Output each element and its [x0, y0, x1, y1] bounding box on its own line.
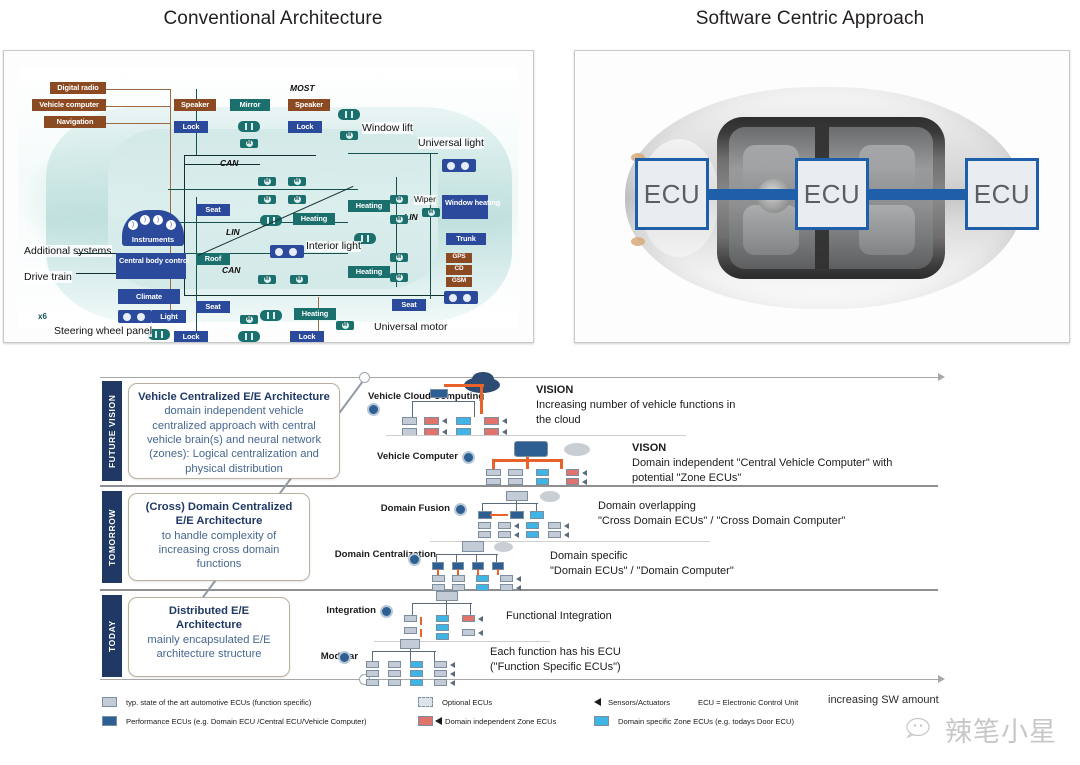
domain-zone-ecu	[436, 624, 449, 631]
ecu-gps: GPS	[446, 253, 472, 263]
ecu-gsm: GSM	[446, 277, 472, 287]
bus-link	[516, 501, 517, 511]
universal-motor-icon: M	[390, 273, 408, 282]
desc-title: VISION	[536, 383, 746, 398]
cloud-icon	[564, 443, 590, 456]
ecu-lock: Lock	[290, 331, 324, 343]
bus-wire	[196, 197, 197, 343]
zone-link	[444, 384, 484, 387]
zone-link	[420, 617, 422, 625]
desc-body: "Cross Domain ECUs" / "Cross Domain Comp…	[598, 515, 845, 527]
legend-swatch-zone-ecu	[418, 716, 433, 726]
lin-bus-wire	[348, 153, 438, 154]
domain-zone-ecu	[526, 531, 539, 538]
cluster-vehicle-computer	[486, 439, 616, 483]
stage-node-domain-fusion[interactable]	[454, 503, 467, 516]
sensor-actuator-icon	[514, 532, 519, 538]
desc-body: Domain independent "Central Vehicle Comp…	[632, 456, 932, 486]
bus-wire	[184, 295, 470, 296]
domain-zone-ecu	[410, 661, 423, 668]
legend-swatch-performance-ecu	[102, 716, 117, 726]
interior-light-icon	[270, 245, 304, 258]
gauge-icon: )	[153, 215, 163, 225]
state-ecu	[498, 531, 511, 538]
bus-link	[412, 603, 472, 604]
most-bus-wire	[170, 89, 171, 321]
ecu-lock: Lock	[174, 331, 208, 343]
bus-wire	[184, 155, 316, 156]
callout-leader	[76, 273, 116, 274]
state-ecu	[452, 584, 465, 591]
callout-wiper: Wiper	[414, 195, 436, 205]
axis-arrow-bottom-icon	[938, 675, 945, 683]
ecu-roof: Roof	[196, 253, 230, 265]
bus-link	[446, 601, 447, 615]
domain-zone-ecu	[476, 575, 489, 582]
bus-link	[412, 603, 413, 615]
stage-node-modular[interactable]	[338, 651, 351, 664]
bus-link	[470, 603, 471, 615]
universal-motor-icon: M	[288, 195, 306, 204]
era-card-future-vision: Vehicle Centralized E/E Architecture dom…	[128, 383, 340, 479]
ecu-seat: Seat	[196, 301, 230, 313]
era-card-body: domain independent vehicle centralized a…	[137, 404, 331, 476]
era-card-title: Vehicle Centralized E/E Architecture	[137, 390, 331, 404]
era-tab-today: TODAY	[102, 595, 122, 677]
universal-light-icon	[442, 159, 476, 172]
cloud-icon	[540, 491, 560, 502]
state-ecu	[478, 522, 491, 529]
domain-zone-ecu	[530, 511, 544, 519]
era-tab-future-vision: FUTURE VISION	[102, 381, 122, 481]
callout-additional-systems: Additional systems	[24, 245, 112, 257]
bus-link	[410, 649, 411, 661]
zone-ecu	[566, 469, 579, 476]
software-centric-panel: ECU ECU ECU	[574, 50, 1070, 343]
sensor-actuator-icon	[514, 523, 519, 529]
era-card-title: (Cross) Domain Centralized E/E Architect…	[137, 500, 301, 529]
callout-steering-wheel-panel: Steering wheel panel	[54, 325, 152, 337]
ecu-trunk: Trunk	[446, 233, 486, 245]
desc-title: Functional Integration	[506, 609, 612, 624]
x6-multiplier-label: x6	[38, 312, 47, 321]
callout-leader	[76, 253, 116, 254]
ecu-window-heating: Window heating	[442, 195, 488, 219]
ecu-light: Light	[152, 310, 186, 323]
wiper-motor-icon: M	[422, 208, 440, 217]
universal-motor-icon: M	[240, 315, 258, 324]
legend-label-optional-ecu: Optional ECUs	[442, 698, 492, 707]
gauge-icon: )	[140, 215, 150, 225]
universal-motor-icon: M	[336, 321, 354, 330]
lin-bus-wire	[396, 177, 397, 287]
legend: typ. state of the art automotive ECUs (f…	[100, 695, 980, 739]
cluster-domain-fusion	[478, 491, 588, 541]
title-row: Conventional Architecture Software Centr…	[0, 0, 1080, 46]
sensor-actuator-icon	[450, 680, 455, 686]
universal-panel-icon	[238, 121, 260, 132]
bus-link	[436, 554, 498, 555]
bus-link	[436, 554, 437, 562]
desc-vehicle-cloud-computing: VISION Increasing number of vehicle func…	[536, 383, 746, 428]
state-ecu	[404, 627, 417, 634]
ecu-navigation: Navigation	[44, 116, 106, 128]
sensor-actuator-icon	[442, 418, 447, 424]
wechat-icon	[905, 716, 939, 742]
stage-divider	[386, 435, 686, 436]
universal-motor-icon: M	[258, 177, 276, 186]
ecu-box-center[interactable]: ECU	[795, 158, 869, 230]
sensor-actuator-icon	[516, 585, 521, 591]
ecu-seat: Seat	[196, 204, 230, 216]
bus-link	[434, 651, 435, 661]
state-ecu	[400, 639, 420, 649]
state-ecu	[432, 575, 445, 582]
legend-swatch-sensors-actuators	[594, 698, 601, 706]
bus-name-can: CAN	[220, 158, 238, 168]
sensor-actuator-icon	[478, 616, 483, 622]
universal-panel-icon	[238, 331, 260, 342]
callout-window-lift: Window lift	[362, 122, 413, 134]
stage-label-domain-fusion: Domain Fusion	[350, 503, 450, 515]
era-card-title: Distributed E/E Architecture	[137, 604, 281, 633]
universal-motor-icon: M	[288, 177, 306, 186]
stage-node-vehicle-cloud-computing[interactable]	[367, 403, 380, 416]
stage-label-integration: Integration	[300, 605, 376, 617]
timeline-axis-bottom	[100, 679, 938, 680]
legend-label-ecu-definition: ECU = Electronic Control Unit	[698, 698, 798, 707]
conventional-architecture-panel: Digital radio Vehicle computer Navigatio…	[3, 50, 534, 343]
desc-body: Increasing number of vehicle functions i…	[536, 398, 746, 428]
legend-swatch-domain-zone-ecu	[594, 716, 609, 726]
cross-domain-ecu	[506, 491, 528, 501]
universal-motor-icon: M	[390, 215, 408, 224]
zone-link	[490, 514, 508, 516]
legend-label-state-of-art-ecu: typ. state of the art automotive ECUs (f…	[126, 698, 311, 707]
state-ecu	[500, 584, 513, 591]
state-ecu	[478, 531, 491, 538]
era-card-body: to handle complexity of increasing cross…	[137, 529, 301, 572]
headlamp-icon	[631, 237, 645, 246]
stage-label-vehicle-computer: Vehicle Computer	[358, 451, 458, 463]
bus-link	[456, 554, 457, 562]
sensor-actuator-icon	[450, 671, 455, 677]
state-ecu	[500, 575, 513, 582]
ecu-box-rear[interactable]: ECU	[965, 158, 1039, 230]
callout-interior-light: Interior light	[306, 241, 361, 252]
desc-title: Each function has his ECU	[490, 645, 621, 660]
state-ecu	[404, 615, 417, 622]
universal-motor-icon: M	[258, 275, 276, 284]
cloud-icon	[494, 542, 513, 552]
ecu-central-body-control: Central body control	[116, 253, 186, 279]
ecu-box-front[interactable]: ECU	[635, 158, 709, 230]
state-ecu	[366, 679, 379, 686]
ecu-heating: Heating	[294, 308, 336, 320]
stage-node-integration[interactable]	[380, 605, 393, 618]
domain-zone-ecu	[410, 670, 423, 677]
ecu-instruments-cluster: ) ) ) ) Instruments	[122, 210, 184, 246]
most-bus-wire	[106, 123, 170, 124]
era-card-tomorrow: (Cross) Domain Centralized E/E Architect…	[128, 493, 310, 581]
universal-panel-icon	[260, 310, 282, 321]
universal-motor-icon: M	[258, 195, 276, 204]
bus-link	[412, 401, 474, 402]
zone-link	[526, 457, 529, 469]
callout-universal-motor: Universal motor	[374, 321, 448, 333]
state-ecu	[366, 670, 379, 677]
desc-domain-fusion: Domain overlapping "Cross Domain ECUs" /…	[598, 499, 845, 529]
ecu-heating: Heating	[348, 200, 390, 212]
state-ecu	[434, 670, 447, 677]
universal-panel-icon	[338, 109, 360, 120]
ecu-digital-radio: Digital radio	[50, 82, 106, 94]
ecu-instruments-label: Instruments	[122, 235, 184, 244]
conventional-car-background: Digital radio Vehicle computer Navigatio…	[18, 67, 518, 329]
domain-computer	[462, 541, 484, 552]
domain-zone-ecu	[410, 679, 423, 686]
state-ecu	[486, 469, 501, 476]
trend-endpoint-top-node	[359, 372, 370, 383]
callout-drive-train: Drive train	[24, 271, 72, 283]
bus-link	[474, 401, 475, 417]
zone-ecu	[566, 478, 579, 485]
zone-ecu	[484, 417, 499, 425]
state-ecu	[434, 679, 447, 686]
legend-label-sensors-actuators: Sensors/Actuators	[608, 698, 670, 707]
desc-body: "Domain ECUs" / "Domain Computer"	[550, 565, 734, 577]
ecu-bus-segment	[695, 189, 811, 200]
desc-integration: Functional Integration	[506, 609, 612, 624]
state-ecu	[432, 584, 445, 591]
gauge-icon: )	[128, 220, 138, 230]
bus-link	[372, 651, 373, 661]
page-title-left: Conventional Architecture	[3, 8, 543, 30]
zone-link	[420, 629, 422, 637]
state-ecu	[508, 478, 523, 485]
central-vehicle-computer	[514, 441, 548, 457]
bus-wire	[168, 253, 348, 254]
state-ecu	[388, 670, 401, 677]
domain-zone-ecu	[536, 478, 549, 485]
ecu-heating: Heating	[293, 213, 335, 225]
callout-universal-light: Universal light	[418, 137, 484, 149]
state-ecu	[462, 629, 475, 636]
bus-link	[482, 503, 538, 504]
state-ecu	[402, 417, 417, 425]
sensor-actuator-icon	[478, 630, 483, 636]
callout-interior-light-text: Interior light	[306, 240, 361, 252]
legend-swatch-optional-ecu	[418, 697, 433, 707]
bus-link	[412, 401, 413, 417]
lin-bus-wire	[430, 153, 431, 299]
legend-label-performance-ecu: Performance ECUs (e.g. Domain ECU /Centr…	[126, 717, 367, 726]
legend-label-domain-zone-ecu: Domain specific Zone ECUs (e.g. todays D…	[618, 717, 794, 726]
ecu-seat: Seat	[392, 299, 426, 311]
cluster-integration	[404, 591, 500, 643]
ee-architecture-evolution-diagram: FUTURE VISION Vehicle Centralized E/E Ar…	[100, 363, 980, 708]
ecu-cd: CD	[446, 265, 472, 275]
stage-node-domain-centralization[interactable]	[408, 553, 421, 566]
sensor-actuator-icon	[516, 576, 521, 582]
universal-light-icon	[444, 291, 478, 304]
desc-modular: Each function has his ECU ("Function Spe…	[490, 645, 621, 675]
ecu-speaker: Speaker	[288, 99, 330, 111]
desc-vehicle-computer: VISON Domain independent "Central Vehicl…	[632, 441, 932, 486]
state-ecu	[388, 679, 401, 686]
desc-title: Domain specific	[550, 549, 734, 564]
zone-ecu	[462, 615, 475, 622]
ecu-climate: Climate	[118, 289, 180, 304]
bus-wire	[168, 189, 358, 190]
desc-domain-centralization: Domain specific "Domain ECUs" / "Domain …	[550, 549, 734, 579]
axis-arrow-top-icon	[938, 373, 945, 381]
state-ecu	[498, 522, 511, 529]
universal-motor-icon: M	[390, 195, 408, 204]
bus-link	[536, 503, 537, 511]
domain-zone-ecu	[536, 469, 549, 476]
state-ecu	[366, 661, 379, 668]
zone-link	[492, 459, 495, 469]
domain-zone-ecu	[476, 584, 489, 591]
cluster-vehicle-cloud-computing	[394, 377, 514, 439]
zone-link	[560, 459, 563, 469]
bus-link	[476, 554, 477, 562]
state-ecu	[508, 469, 523, 476]
light-icon	[118, 310, 152, 323]
zone-link	[480, 384, 483, 414]
zone-ecu	[424, 417, 439, 425]
state-ecu	[388, 661, 401, 668]
state-ecu	[452, 575, 465, 582]
desc-title: VISON	[632, 441, 932, 456]
era-card-body: mainly encapsulated E/E architecture str…	[137, 633, 281, 662]
sensor-actuator-icon	[450, 662, 455, 668]
universal-motor-icon: M	[240, 139, 258, 148]
state-ecu	[434, 661, 447, 668]
desc-body: ("Function Specific ECUs")	[490, 661, 621, 673]
watermark-text: 辣笔小星	[945, 710, 1057, 749]
universal-motor-icon: M	[340, 131, 358, 140]
gauge-icon: )	[166, 220, 176, 230]
bus-link	[372, 651, 436, 652]
most-bus-wire	[106, 106, 170, 107]
desc-title: Domain overlapping	[598, 499, 845, 514]
timeline-axis-top	[100, 377, 938, 378]
sensor-actuator-icon	[564, 523, 569, 529]
ecu-vehicle-computer: Vehicle computer	[32, 99, 106, 111]
state-ecu	[486, 478, 501, 485]
stage-node-vehicle-computer[interactable]	[462, 451, 475, 464]
universal-panel-icon	[260, 215, 282, 226]
state-ecu	[548, 522, 561, 529]
bus-link	[496, 554, 497, 562]
state-ecu	[436, 591, 458, 601]
cluster-domain-centralization	[432, 541, 544, 593]
legend-sensor-icon	[435, 717, 442, 725]
performance-ecu	[430, 389, 448, 398]
page-title-right: Software Centric Approach	[540, 8, 1080, 30]
universal-motor-icon: M	[290, 275, 308, 284]
bus-name-most: MOST	[290, 83, 315, 93]
era-tab-tomorrow: TOMORROW	[102, 491, 122, 583]
domain-zone-ecu	[436, 615, 449, 622]
universal-motor-icon: M	[390, 253, 408, 262]
era-card-today: Distributed E/E Architecture mainly enca…	[128, 597, 290, 677]
ecu-lock: Lock	[288, 121, 322, 133]
domain-zone-ecu	[456, 417, 471, 425]
most-bus-wire	[106, 89, 170, 90]
legend-swatch-state-of-art-ecu	[102, 697, 117, 707]
wechat-watermark: 辣笔小星	[905, 700, 1080, 758]
ecu-speaker: Speaker	[174, 99, 216, 111]
state-ecu	[548, 531, 561, 538]
bus-name-lin: LIN	[226, 227, 240, 237]
top-view-car-image: ECU ECU ECU	[591, 65, 1055, 330]
sensor-actuator-icon	[564, 532, 569, 538]
performance-ecu	[510, 511, 524, 519]
bus-link	[482, 503, 483, 511]
sensor-actuator-icon	[582, 470, 587, 476]
sensor-actuator-icon	[582, 479, 587, 485]
ecu-lock: Lock	[174, 121, 208, 133]
ecu-heating: Heating	[348, 266, 390, 278]
sensor-actuator-icon	[502, 418, 507, 424]
ecu-mirror: Mirror	[230, 99, 270, 111]
cluster-modular	[366, 639, 474, 689]
bus-name-can: CAN	[222, 265, 240, 275]
legend-label-zone-ecu: Domain independent Zone ECUs	[445, 717, 556, 726]
domain-zone-ecu	[526, 522, 539, 529]
